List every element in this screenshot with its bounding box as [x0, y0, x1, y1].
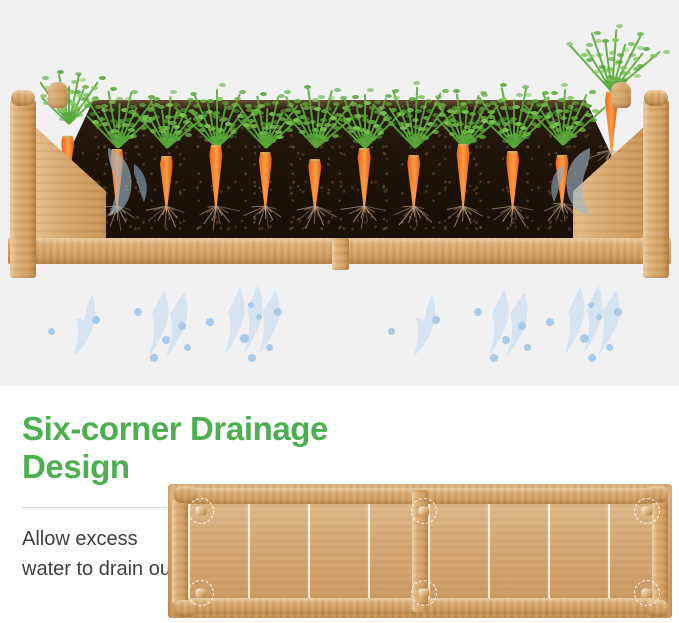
- inner-knob-right: [611, 82, 631, 108]
- water-droplet: [518, 322, 526, 330]
- water-droplet: [490, 354, 498, 362]
- water-droplet: [150, 354, 158, 362]
- drainage-hole: [196, 589, 207, 598]
- carrot-hair-roots: [490, 206, 536, 236]
- water-splash: [218, 284, 290, 356]
- water-droplet: [162, 336, 170, 344]
- water-droplet: [266, 344, 273, 351]
- carrot-foliage: [140, 74, 192, 148]
- carrot-hair-roots: [391, 206, 437, 236]
- carrot: [201, 52, 231, 240]
- drainage-point-marker: [411, 580, 437, 606]
- drainage-point-marker: [634, 498, 660, 524]
- carrot-root: [358, 148, 371, 214]
- draining-water-graphic: [0, 278, 679, 373]
- carrot: [300, 52, 330, 240]
- carrot-hair-roots: [193, 206, 239, 236]
- carrot: [498, 52, 528, 240]
- water-droplet: [388, 328, 395, 335]
- carrot-root: [209, 145, 222, 214]
- water-droplet: [432, 316, 440, 324]
- post-cap-right: [644, 90, 668, 106]
- carrot-hair-roots: [292, 206, 338, 236]
- feature-headline: Six-corner DrainageDesign: [22, 410, 394, 487]
- water-droplet: [240, 334, 249, 343]
- water-droplet: [184, 344, 191, 351]
- garden-bed-cutaway: [8, 100, 671, 278]
- carrot-foliage: [585, 18, 637, 92]
- water-splash: [480, 288, 542, 358]
- product-illustration-panel: [0, 0, 679, 386]
- water-droplet: [248, 354, 256, 362]
- corner-post-right: [643, 100, 669, 278]
- water-splash: [62, 292, 114, 356]
- drainage-hole: [642, 507, 653, 516]
- carrot-foliage: [536, 71, 588, 145]
- carrot: [250, 52, 280, 240]
- drainage-hole: [642, 589, 653, 598]
- drainage-point-marker: [188, 580, 214, 606]
- water-droplet: [588, 302, 594, 308]
- water-flow-arrow-right: [542, 144, 604, 218]
- water-droplet: [546, 318, 554, 326]
- water-droplet: [256, 314, 262, 320]
- water-droplet: [588, 354, 596, 362]
- water-droplet: [502, 336, 510, 344]
- water-droplet: [614, 308, 622, 316]
- water-droplet: [206, 318, 214, 326]
- water-splash: [402, 292, 454, 356]
- drainage-hole: [196, 507, 207, 516]
- inner-knob-left: [48, 82, 68, 108]
- carrot-foliage: [289, 74, 341, 148]
- center-divider-post: [332, 238, 349, 270]
- feature-subcopy: Allow excess water to drain out: [22, 524, 192, 585]
- drainage-point-marker: [634, 580, 660, 606]
- water-droplet: [134, 308, 142, 316]
- frame-rail-left: [172, 498, 188, 604]
- drainage-point-marker: [188, 498, 214, 524]
- water-droplet: [606, 344, 613, 351]
- water-droplet: [178, 322, 186, 330]
- water-droplet: [274, 308, 282, 316]
- water-droplet: [48, 328, 55, 335]
- carrot: [448, 52, 478, 240]
- water-droplet: [596, 314, 602, 320]
- carrot-foliage: [190, 74, 242, 148]
- water-droplet: [474, 308, 482, 316]
- carrot-hair-roots: [341, 206, 387, 236]
- water-flow-arrow-left: [94, 144, 156, 218]
- slat-panel-right: [428, 504, 652, 598]
- drainage-hole: [419, 507, 430, 516]
- water-splash: [140, 288, 202, 358]
- water-droplet: [524, 344, 531, 351]
- carrot-root: [457, 144, 470, 214]
- slat-panel-left: [188, 504, 412, 598]
- carrot-foliage: [388, 74, 440, 148]
- feature-callout-panel: Six-corner DrainageDesign Allow excess w…: [0, 386, 679, 623]
- headline-divider: [22, 507, 184, 508]
- headline-line-1: Six-corner Drainage: [22, 410, 328, 447]
- post-cap-left: [11, 90, 35, 106]
- water-droplet: [248, 302, 254, 308]
- product-photo-bottom-view: [168, 484, 672, 618]
- carrot-hair-roots: [242, 206, 288, 236]
- carrot-hair-roots: [440, 206, 486, 236]
- drainage-point-marker: [411, 498, 437, 524]
- drainage-hole: [419, 589, 430, 598]
- carrot: [349, 52, 379, 240]
- water-droplet: [92, 316, 100, 324]
- headline-line-2: Design: [22, 448, 130, 485]
- corner-post-left: [10, 100, 36, 278]
- water-droplet: [580, 334, 589, 343]
- water-splash: [558, 284, 630, 356]
- carrot: [399, 52, 429, 240]
